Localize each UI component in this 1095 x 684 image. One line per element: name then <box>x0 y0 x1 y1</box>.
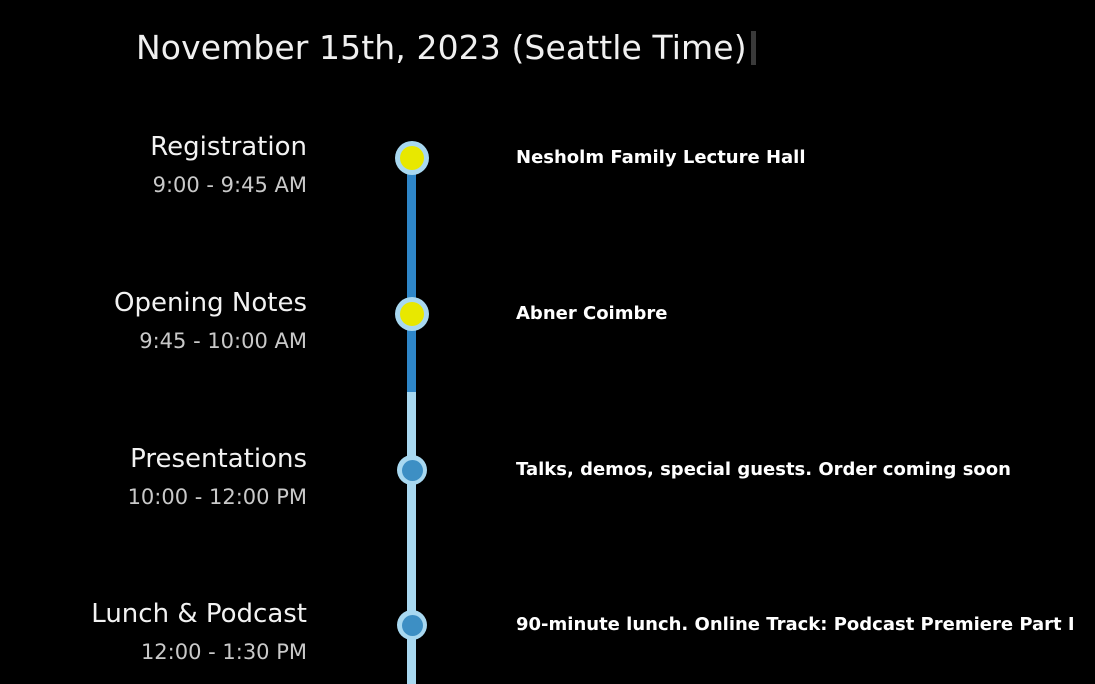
event-marker-dot[interactable] <box>395 297 429 331</box>
event-time: 12:00 - 1:30 PM <box>0 637 307 667</box>
event-title: Lunch & Podcast <box>0 597 307 631</box>
event-title: Opening Notes <box>0 286 307 320</box>
text-caret <box>751 31 756 65</box>
event-time: 10:00 - 12:00 PM <box>0 482 307 512</box>
event-marker-core <box>402 615 423 636</box>
timeline-rail-completed-segment <box>407 155 416 392</box>
event-description: Talks, demos, special guests. Order comi… <box>516 457 1011 483</box>
timeline-rail-upcoming-segment <box>407 392 416 684</box>
event-description: 90-minute lunch. Online Track: Podcast P… <box>516 612 1075 638</box>
event-left-column: Registration 9:00 - 9:45 AM <box>0 130 307 200</box>
event-marker-dot[interactable] <box>397 610 427 640</box>
event-description: Abner Coimbre <box>516 301 667 327</box>
event-title: Presentations <box>0 442 307 476</box>
event-marker-core <box>400 302 424 326</box>
event-left-column: Presentations 10:00 - 12:00 PM <box>0 442 307 512</box>
timeline-rail <box>407 155 416 684</box>
event-left-column: Opening Notes 9:45 - 10:00 AM <box>0 286 307 356</box>
event-title: Registration <box>0 130 307 164</box>
event-left-column: Lunch & Podcast 12:00 - 1:30 PM <box>0 597 307 667</box>
schedule-page: November 15th, 2023 (Seattle Time) Regis… <box>0 0 1095 684</box>
event-marker-core <box>400 146 424 170</box>
event-description: Nesholm Family Lecture Hall <box>516 145 806 171</box>
event-marker-core <box>402 460 423 481</box>
page-title-text: November 15th, 2023 (Seattle Time) <box>136 26 747 70</box>
page-title: November 15th, 2023 (Seattle Time) <box>136 24 756 72</box>
event-marker-dot[interactable] <box>397 455 427 485</box>
event-time: 9:00 - 9:45 AM <box>0 170 307 200</box>
event-marker-dot[interactable] <box>395 141 429 175</box>
event-time: 9:45 - 10:00 AM <box>0 326 307 356</box>
